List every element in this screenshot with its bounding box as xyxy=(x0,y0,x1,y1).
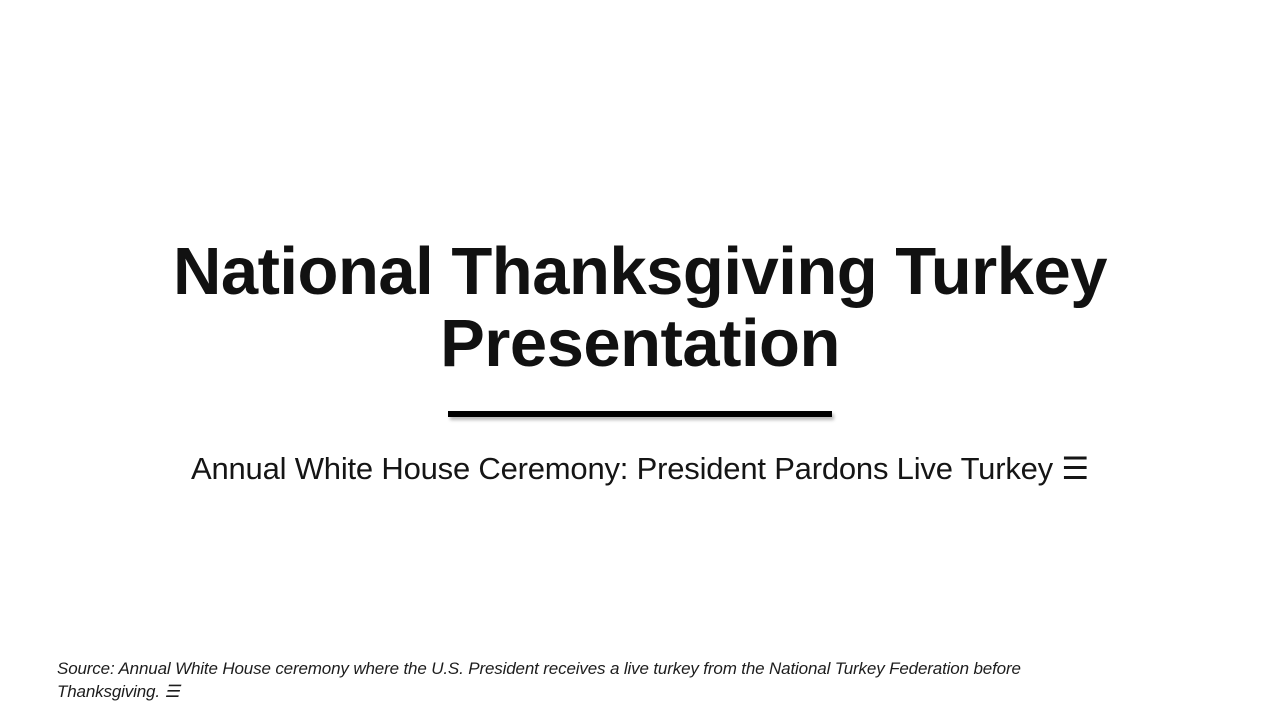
title-slide: National Thanksgiving Turkey Presentatio… xyxy=(0,0,1280,720)
title-divider-rule xyxy=(448,411,832,417)
subtitle-container: Annual White House Ceremony: President P… xyxy=(0,449,1280,489)
title-block: National Thanksgiving Turkey Presentatio… xyxy=(0,236,1280,380)
page-title: National Thanksgiving Turkey Presentatio… xyxy=(0,236,1280,380)
source-footnote: Source: Annual White House ceremony wher… xyxy=(57,657,1042,703)
page-subtitle: Annual White House Ceremony: President P… xyxy=(0,449,1280,489)
divider-container xyxy=(0,411,1280,417)
